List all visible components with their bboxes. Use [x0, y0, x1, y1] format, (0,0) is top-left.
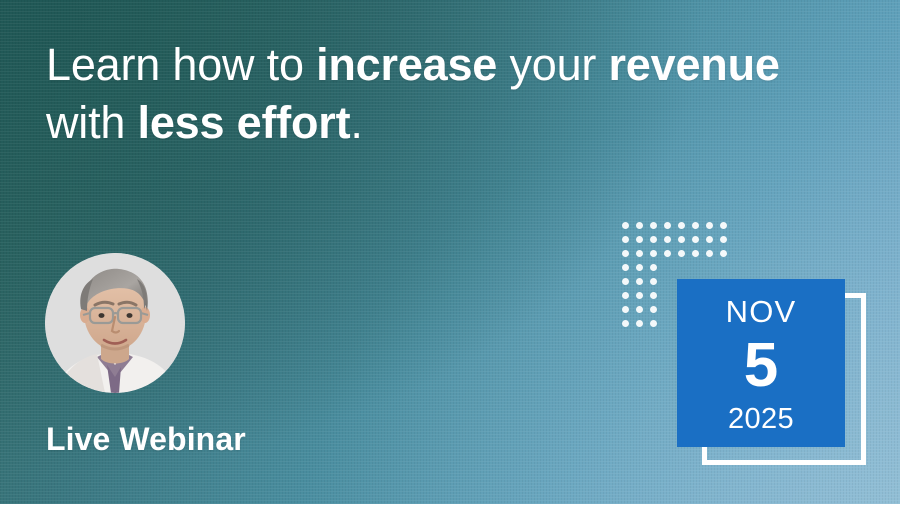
grid-dot: [636, 264, 643, 271]
headline-line-2: with less effort.: [46, 94, 846, 152]
grid-dot: [720, 222, 727, 229]
headline-text-3: with: [46, 97, 138, 148]
grid-dot: [692, 236, 699, 243]
grid-dot: [636, 292, 643, 299]
grid-dot: [706, 250, 713, 257]
headline-emphasis-less-effort: less effort: [138, 97, 351, 148]
headline: Learn how to increase your revenue with …: [46, 36, 846, 152]
grid-dot: [650, 222, 657, 229]
grid-dot: [622, 320, 629, 327]
grid-dot: [692, 222, 699, 229]
grid-dot: [636, 320, 643, 327]
grid-dot: [622, 278, 629, 285]
grid-dot: [636, 236, 643, 243]
grid-dot: [720, 236, 727, 243]
grid-dot: [650, 236, 657, 243]
grid-dot: [650, 250, 657, 257]
grid-dot: [706, 236, 713, 243]
grid-dot: [636, 278, 643, 285]
headline-line-1: Learn how to increase your revenue: [46, 36, 846, 94]
grid-dot: [720, 250, 727, 257]
grid-dot: [650, 306, 657, 313]
date-day: 5: [744, 331, 778, 401]
avatar: [45, 253, 185, 393]
grid-dot: [622, 292, 629, 299]
headline-emphasis-revenue: revenue: [609, 39, 780, 90]
grid-dot: [664, 222, 671, 229]
grid-dot: [706, 222, 713, 229]
grid-dot: [678, 222, 685, 229]
date-year: 2025: [728, 403, 794, 435]
grid-dot: [678, 236, 685, 243]
grid-dot: [622, 222, 629, 229]
headline-text-2: your: [497, 39, 608, 90]
grid-dot: [622, 306, 629, 313]
grid-dot: [650, 278, 657, 285]
grid-dot: [678, 250, 685, 257]
live-webinar-label: Live Webinar: [46, 420, 246, 458]
grid-dot: [636, 250, 643, 257]
grid-dot: [636, 222, 643, 229]
grid-dot: [622, 236, 629, 243]
date-card: NOV 5 2025: [677, 279, 845, 447]
grid-dot: [650, 264, 657, 271]
grid-dot: [650, 320, 657, 327]
speaker-portrait-icon: [45, 253, 185, 393]
headline-text-1: Learn how to: [46, 39, 316, 90]
headline-text-4: .: [350, 97, 362, 148]
grid-dot: [650, 292, 657, 299]
grid-dot: [622, 264, 629, 271]
headline-emphasis-increase: increase: [316, 39, 497, 90]
grid-dot: [636, 306, 643, 313]
grid-dot: [664, 236, 671, 243]
grid-dot: [692, 250, 699, 257]
date-month: NOV: [726, 295, 797, 329]
grid-dot: [664, 250, 671, 257]
webinar-promo-banner: Learn how to increase your revenue with …: [0, 0, 900, 507]
grid-dot: [622, 250, 629, 257]
